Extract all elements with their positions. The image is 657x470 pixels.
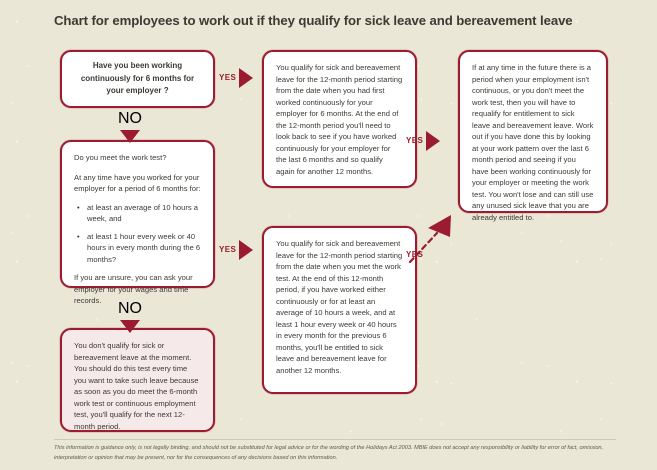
connector-q1-yes-label: YES (219, 74, 236, 82)
node-outcome-not-qualified: You don't qualify for sick or bereavemen… (60, 328, 215, 432)
node-work-test-intro: At any time have you worked for your emp… (74, 172, 201, 195)
node-question-work-test: Do you meet the work test? At any time h… (60, 140, 215, 288)
arrow-right-icon (239, 68, 253, 88)
node-future-requalification: If at any time in the future there is a … (458, 50, 608, 213)
arrow-diagonal-dashed-icon (406, 210, 476, 270)
connector-work-test-yes: YES (406, 210, 476, 270)
node-outcome-work-test-text: You qualify for sick and bereavement lea… (276, 238, 403, 376)
page-title: Chart for employees to work out if they … (54, 13, 634, 28)
connector-continuous-yes: YES (406, 131, 440, 151)
connector-work-test-yes-label: YES (406, 250, 423, 259)
connector-q2-yes: YES (219, 240, 253, 260)
connector-q1-yes: YES (219, 68, 253, 88)
list-item: at least 1 hour every week or 40 hours i… (87, 231, 201, 266)
arrow-down-icon (120, 130, 140, 143)
connector-q1-no: NO (118, 110, 142, 143)
arrow-right-icon (239, 240, 253, 260)
node-work-test-bullets: at least an average of 10 hours a week, … (74, 202, 201, 266)
node-work-test-heading: Do you meet the work test? (74, 152, 201, 164)
footer-disclaimer: This information is guidance only, is no… (54, 444, 616, 463)
node-outcome-continuous-employment-text: You qualify for sick and bereavement lea… (276, 62, 403, 177)
connector-q1-no-label: NO (118, 110, 142, 128)
node-outcome-continuous-employment: You qualify for sick and bereavement lea… (262, 50, 417, 188)
arrow-right-icon (426, 131, 440, 151)
arrow-down-icon (120, 320, 140, 333)
connector-continuous-yes-label: YES (406, 137, 423, 145)
node-future-requalification-text: If at any time in the future there is a … (472, 62, 594, 223)
connector-q2-no-label: NO (118, 300, 142, 318)
connector-q2-no: NO (118, 300, 142, 333)
node-question-continuous-employment: Have you been working continuously for 6… (60, 50, 215, 108)
node-question-continuous-employment-text: Have you been working continuously for 6… (74, 60, 201, 98)
node-outcome-not-qualified-text: You don't qualify for sick or bereavemen… (74, 340, 201, 432)
footer-divider (54, 439, 616, 440)
node-outcome-work-test: You qualify for sick and bereavement lea… (262, 226, 417, 394)
connector-q2-yes-label: YES (219, 246, 236, 254)
list-item: at least an average of 10 hours a week, … (87, 202, 201, 225)
